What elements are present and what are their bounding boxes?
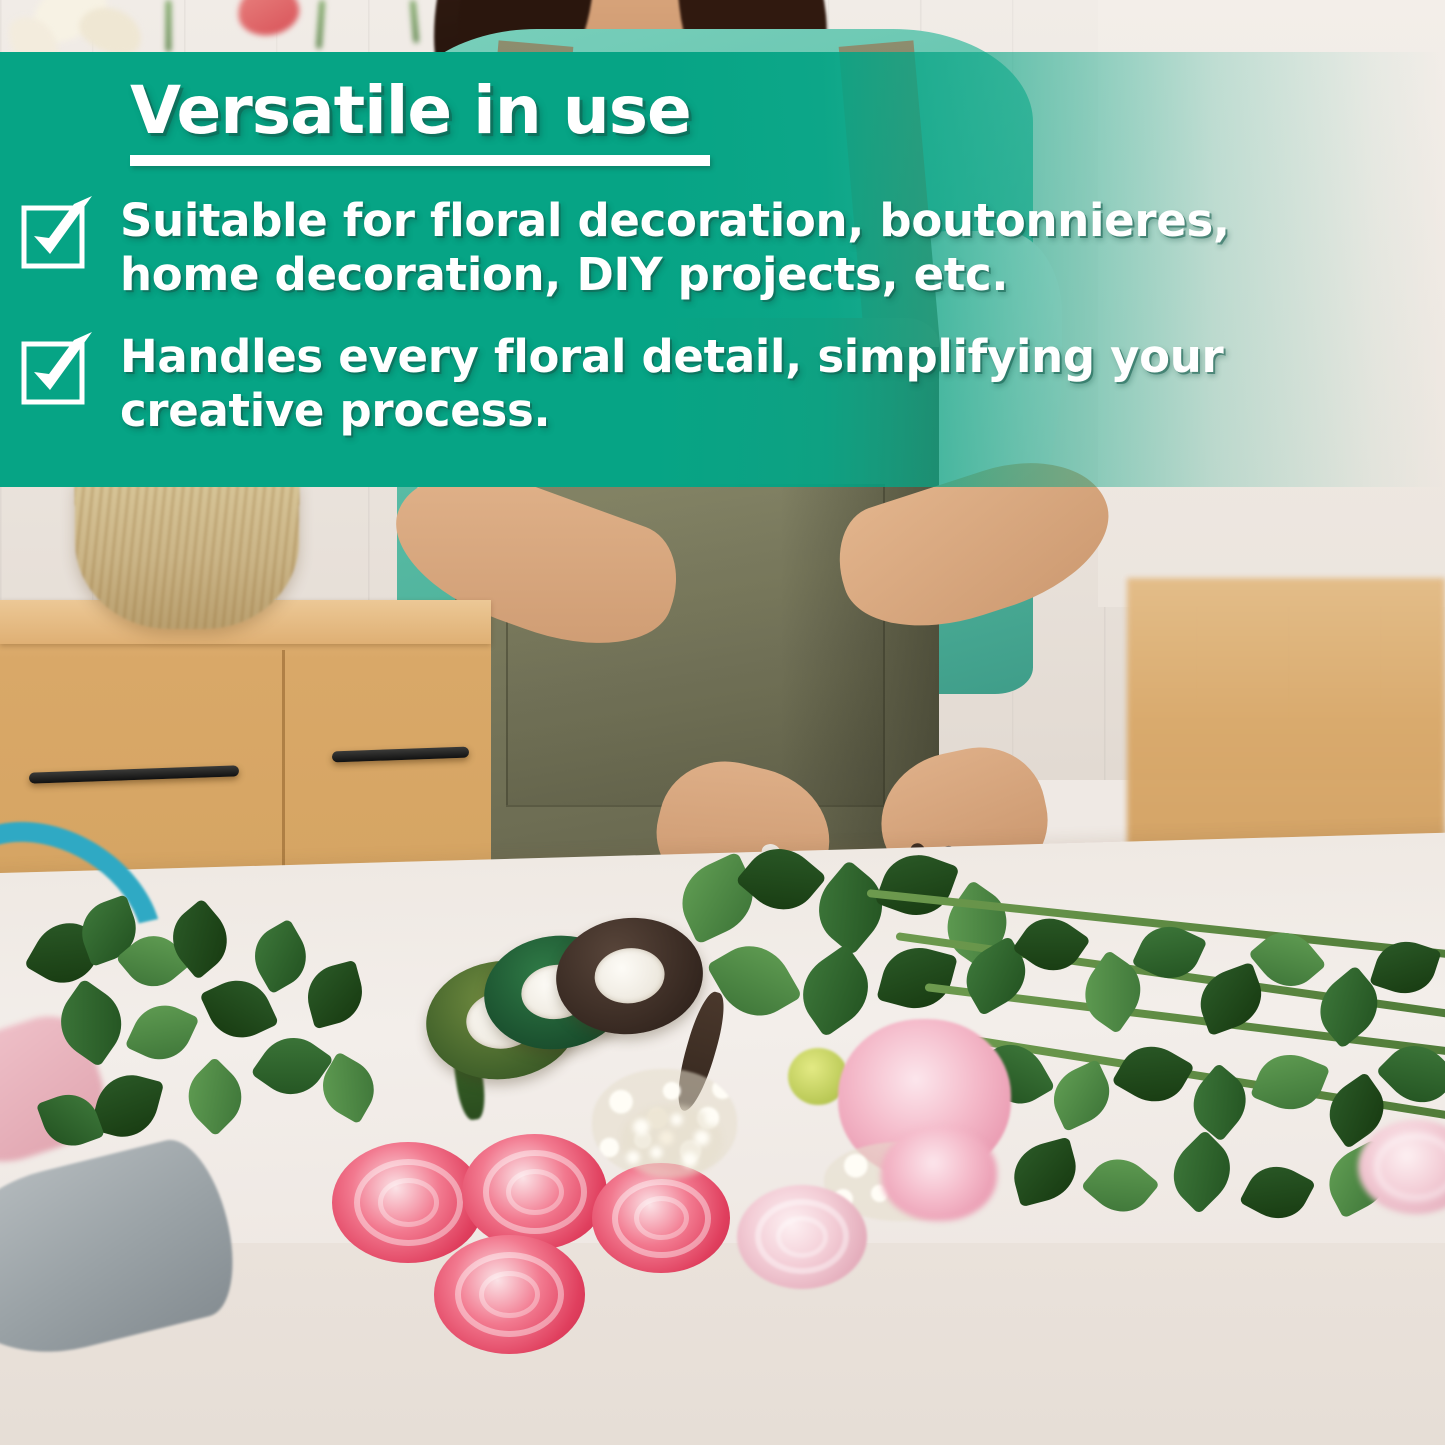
flower-stem	[166, 0, 171, 52]
seagrass-basket	[75, 470, 299, 629]
checkbox-checked-icon	[20, 198, 92, 270]
banner-content: Versatile in use Suitable for floral dec…	[0, 52, 1445, 487]
hot-pink-garden-rose	[462, 1134, 607, 1250]
title-underline	[130, 155, 710, 166]
list-item: Handles every floral detail, simplifying…	[0, 330, 1445, 438]
product-feature-image: Versatile in use Suitable for floral dec…	[0, 0, 1445, 1445]
list-item-label: Suitable for floral decoration, boutonni…	[120, 194, 1300, 302]
blush-rose	[737, 1185, 867, 1289]
hot-pink-garden-rose	[434, 1235, 586, 1353]
babys-breath	[621, 1105, 722, 1177]
hot-pink-garden-rose	[332, 1142, 484, 1263]
list-item-label: Handles every floral detail, simplifying…	[120, 330, 1300, 438]
hot-pink-garden-rose	[592, 1163, 729, 1273]
page-title: Versatile in use	[130, 72, 691, 149]
feature-list: Suitable for floral decoration, boutonni…	[0, 194, 1445, 466]
greenery-cluster-right	[954, 896, 1445, 1272]
list-item: Suitable for floral decoration, boutonni…	[0, 194, 1445, 302]
checkbox-checked-icon	[20, 334, 92, 406]
pink-carnation	[881, 1127, 997, 1221]
